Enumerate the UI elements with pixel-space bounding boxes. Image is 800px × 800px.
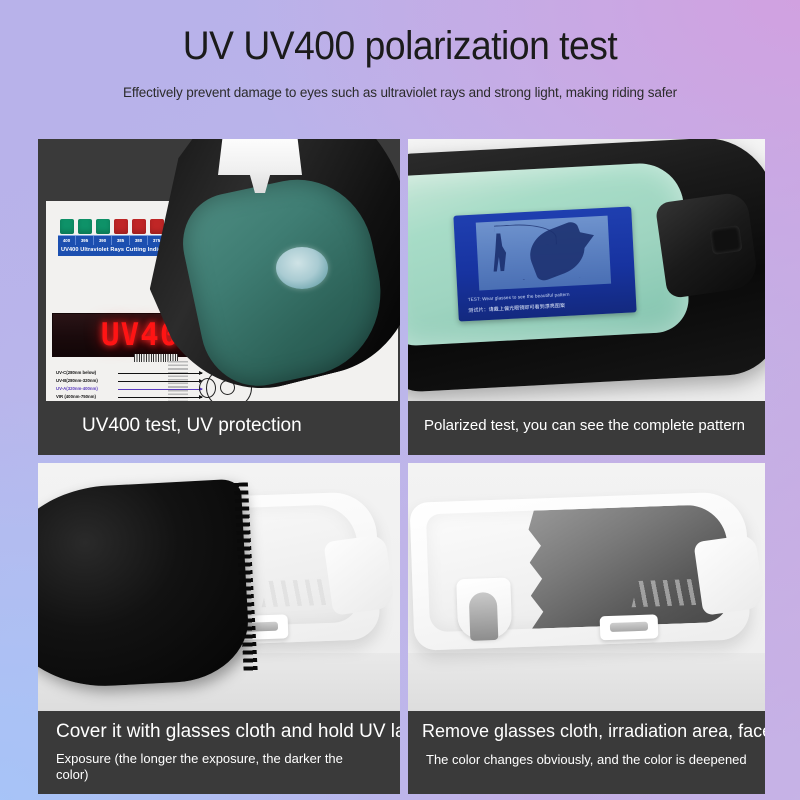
uv-wavelength-tick: 385: [112, 236, 130, 245]
page-subtitle: Effectively prevent damage to eyes such …: [0, 66, 800, 100]
uv-chip: [96, 219, 110, 234]
page-title: UV UV400 polarization test: [28, 0, 772, 66]
uv-wavelength-tick: 390: [94, 236, 112, 245]
uv-ray-row: UV-B(280nm-320nm): [56, 377, 216, 385]
uv-ray-label: UV-A(320nm-400nm): [56, 386, 98, 391]
uv-ray-row: UV-A(320nm-400nm): [56, 385, 216, 393]
polarization-test-card: TEST: Wear glasses to see the beautiful …: [453, 206, 636, 321]
caption-sub: Exposure (the longer the exposure, the d…: [56, 743, 400, 784]
uv-ray-row: VIR (400nm-750nm): [56, 393, 216, 401]
uv-ray-label: UV-C(280nm below): [56, 370, 96, 375]
caption-main: Remove glasses cloth, irradiation area, …: [422, 721, 765, 742]
table-surface: [408, 653, 765, 711]
polarization-pattern-image: [476, 216, 611, 291]
uv-chip: [150, 219, 164, 234]
sunglasses-temple: [693, 534, 765, 616]
nose-bridge-gap: [469, 592, 499, 641]
panel-polarized-test: TEST: Wear glasses to see the beautiful …: [408, 139, 765, 455]
uv-chip: [78, 219, 92, 234]
panel-remove-cloth: Remove glasses cloth, irradiation area, …: [408, 463, 765, 794]
uv-ray-label: UV-B(280nm-320nm): [56, 378, 98, 383]
sunglasses-white-frame: [410, 491, 751, 651]
lens-vent-icon: [632, 579, 709, 608]
uv-chip: [114, 219, 128, 234]
caption-main: Polarized test, you can see the complete…: [424, 417, 765, 434]
sunglasses-temple: [323, 534, 395, 616]
sunglasses-temple: [655, 191, 759, 299]
uv-ray-row: UV-C(280nm below): [56, 369, 216, 377]
caption-bar-cover: Cover it with glasses cloth and hold UV …: [38, 711, 400, 794]
caption-bar-uv400: UV400 test, UV protection: [38, 401, 400, 455]
uv-ray-label: VIR (400nm-750nm): [56, 394, 96, 399]
caption-bar-remove: Remove glasses cloth, irradiation area, …: [408, 711, 765, 794]
caption-bar-polarized: Polarized test, you can see the complete…: [408, 401, 765, 455]
lens-vent-icon: [262, 579, 339, 608]
uv-sensor-dimple: [276, 247, 328, 289]
uv-wavelength-tick: 380: [130, 236, 148, 245]
panel-cover-with-cloth: Cover it with glasses cloth and hold UV …: [38, 463, 400, 794]
uv-ray-labels: UV-C(280nm below) UV-B(280nm-320nm) UV-A…: [56, 369, 216, 401]
sunglasses-temple-slot: [709, 225, 742, 255]
sunglasses-bridge-slot: [600, 614, 659, 640]
uv-wavelength-tick: 395: [76, 236, 94, 245]
header: UV UV400 polarization test Effectively p…: [0, 0, 800, 139]
panel-uv400-test: 400 395 390 385 380 375 370 365 360 UV40…: [38, 139, 400, 455]
uv-chip: [132, 219, 146, 234]
caption-main: Cover it with glasses cloth and hold UV …: [56, 721, 400, 743]
cornea-icon: [199, 378, 216, 398]
panel-grid: 400 395 390 385 380 375 370 365 360 UV40…: [38, 139, 765, 794]
uv-chip: [60, 219, 74, 234]
water-splash-icon: [506, 268, 599, 285]
microfiber-cloth: [38, 479, 251, 692]
uv-wavelength-tick: 400: [58, 236, 76, 245]
test-card-line-cn: 测试片：请戴上偏光眼镜即可看到漂亮图案: [468, 299, 630, 314]
caption-main: UV400 test, UV protection: [82, 415, 400, 437]
caption-sub: The color changes obviously, and the col…: [422, 742, 765, 768]
